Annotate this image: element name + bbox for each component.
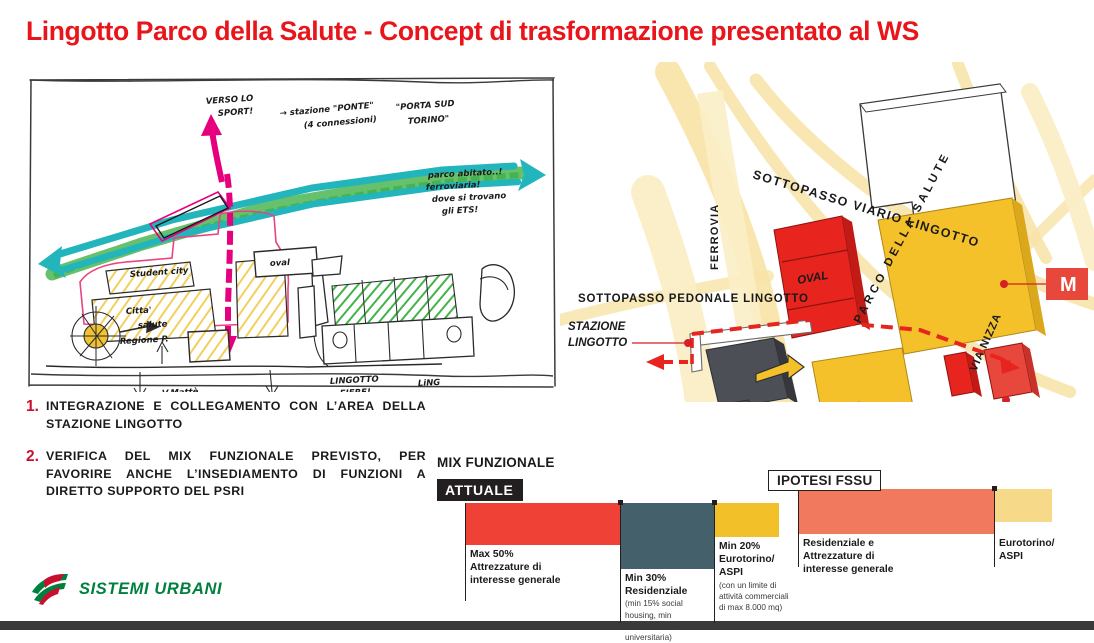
bar-segment-attrezzature <box>465 503 620 545</box>
sketch-label-citta-salute: Citta' <box>126 306 152 317</box>
ipotesi-fssu-section: IPOTESI FSSU Residenziale e Attrezzature… <box>768 470 1088 600</box>
map-label-metro: M <box>1060 274 1077 296</box>
svg-text:TORINO": TORINO" <box>408 114 450 127</box>
axis-tick-right <box>714 501 715 623</box>
axis-tick-dot-right <box>712 500 717 505</box>
status-badge-attuale: ATTUALE <box>437 479 523 501</box>
brand-logo-text: SISTEMI URBANI <box>79 580 222 599</box>
status-badge-ipotesi-fssu: IPOTESI FSSU <box>768 470 881 491</box>
bar-label-residenziale: Min 30% Residenziale (min 15% social hou… <box>625 572 713 643</box>
bar-label-residenziale-attrezzature: Residenziale e Attrezzature di interesse… <box>803 537 983 577</box>
sketch-label-lingotto-fiere: LINGOTTO <box>330 374 379 387</box>
sketch-label-verso-sport: VERSO LO <box>206 94 254 107</box>
list-item: 2. VERIFICA DEL MIX FUNZIONALE PREVISTO,… <box>26 448 426 501</box>
svg-text:(4 connessioni): (4 connessioni) <box>303 115 377 131</box>
lingotto-masterplan-map: OVAL <box>560 62 1094 402</box>
svg-text:salute: salute <box>138 319 168 331</box>
map-label-ferrovia: FERROVIA <box>709 204 721 270</box>
svg-text:dove si trovano: dove si trovano <box>432 191 507 205</box>
bar-label-eurotorino-fssu: Eurotorino/ ASPI <box>999 537 1085 563</box>
axis-tick-dot-fssu <box>992 486 997 491</box>
svg-text:ferroviaria!: ferroviaria! <box>426 180 481 193</box>
fs-logo-icon <box>30 572 72 606</box>
bar-segment-residenziale-attrezzature <box>798 489 994 534</box>
bar-segment-residenziale <box>620 503 714 569</box>
slide-canvas: Lingotto Parco della Salute - Concept di… <box>0 0 1094 630</box>
sketch-label-porta-sud: "PORTA SUD <box>396 99 455 113</box>
map-label-stazione-l1: STAZIONE <box>568 321 626 333</box>
map-label-sottopasso-pedonale: SOTTOPASSO PEDONALE LINGOTTO <box>578 293 809 305</box>
bar-label-attrezzature: Max 50% Attrezzature di interesse genera… <box>470 548 620 588</box>
axis-tick-left <box>465 503 466 601</box>
axis-tick-mid <box>620 501 621 623</box>
chart-ipotesi-fssu: IPOTESI FSSU Residenziale e Attrezzature… <box>768 470 1088 600</box>
mix-funzionale-title: MIX FUNZIONALE <box>437 455 767 470</box>
page-title: Lingotto Parco della Salute - Concept di… <box>26 16 1066 47</box>
list-item-label: VERIFICA DEL MIX FUNZIONALE PREVISTO, PE… <box>46 448 426 501</box>
bar-segment-eurotorino-fssu <box>994 489 1052 522</box>
mix-funzionale-section: MIX FUNZIONALE ATTUALE Max 50% Attrezzat… <box>437 455 767 629</box>
sketch-label-v-matte: V.Mattè <box>162 386 199 392</box>
svg-text:gli ETS!: gli ETS! <box>442 205 479 217</box>
sketch-label-regione: Regione P. <box>120 334 169 347</box>
concept-hand-sketch: VERSO LO SPORT! → stazione "PONTE" (4 co… <box>22 74 562 392</box>
svg-text:SPORT!: SPORT! <box>218 107 254 119</box>
list-item-label: INTEGRAZIONE E COLLEGAMENTO CON L’AREA D… <box>46 398 426 433</box>
svg-text:FIERE!: FIERE! <box>340 387 372 392</box>
list-item-number: 1. <box>26 398 46 415</box>
axis-tick-dot-mid <box>618 500 623 505</box>
sketch-label-ling: LiNG <box>418 378 441 389</box>
axis-tick-right-fssu <box>994 487 995 567</box>
map-label-stazione-l2: LINGOTTO <box>568 337 627 349</box>
brand-logo: SISTEMI URBANI <box>30 572 222 606</box>
footer-bar <box>0 621 1094 630</box>
list-item-number: 2. <box>26 448 46 465</box>
bar-segment-eurotorino <box>714 503 779 537</box>
list-item: 1. INTEGRAZIONE E COLLEGAMENTO CON L’ARE… <box>26 398 426 433</box>
sketch-label-oval: oval <box>270 258 292 269</box>
key-points-list: 1. INTEGRAZIONE E COLLEGAMENTO CON L’ARE… <box>26 398 426 516</box>
axis-tick-left-fssu <box>798 489 799 567</box>
chart-attuale: ATTUALE Max 50% Attrezzature di interess… <box>437 479 767 629</box>
